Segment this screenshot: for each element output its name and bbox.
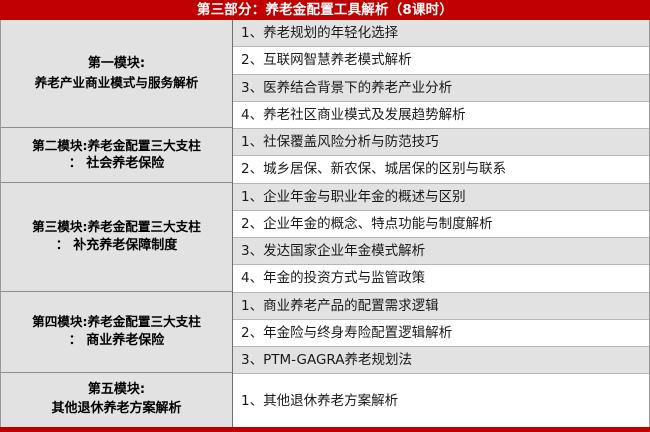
module-4-line-2: ： 商业养老保险 <box>69 332 165 351</box>
topic-row: 1、社保覆盖风险分析与防范技巧 <box>233 129 649 156</box>
topic-row: 3、PTM-GAGRA养老规划法 <box>233 347 649 374</box>
module-column: 第一模块: 养老产业商业模式与服务解析 第二模块:养老金配置三大支柱 ： 社会养… <box>1 20 233 427</box>
module-cell-1: 第一模块: 养老产业商业模式与服务解析 <box>1 20 232 128</box>
module-cell-2: 第二模块:养老金配置三大支柱 ： 社会养老保险 <box>1 128 232 183</box>
course-outline-table: 第三部分：养老金配置工具解析（8课时） 第一模块: 养老产业商业模式与服务解析 … <box>0 0 650 432</box>
topic-row: 1、其他退休养老方案解析 <box>233 374 649 427</box>
module-cell-5: 第五模块: 其他退休养老方案解析 <box>1 373 232 427</box>
topic-row: 1、商业养老产品的配置需求逻辑 <box>233 293 649 320</box>
module-5-line-1: 第五模块: <box>88 381 145 400</box>
module-2-line-2: ： 社会养老保险 <box>69 155 165 174</box>
topic-row: 2、城乡居保、新农保、城居保的区别与联系 <box>233 156 649 183</box>
topic-row: 3、发达国家企业年金模式解析 <box>233 238 649 265</box>
table-body: 第一模块: 养老产业商业模式与服务解析 第二模块:养老金配置三大支柱 ： 社会养… <box>0 20 650 427</box>
module-cell-4: 第四模块:养老金配置三大支柱 ： 商业养老保险 <box>1 292 232 374</box>
topic-row: 1、养老规划的年轻化选择 <box>233 20 649 47</box>
module-cell-3: 第三模块:养老金配置三大支柱 ： 补充养老保障制度 <box>1 183 232 291</box>
module-4-line-1: 第四模块:养老金配置三大支柱 <box>32 313 201 331</box>
topic-row: 2、年金险与终身寿险配置逻辑解析 <box>233 320 649 347</box>
topic-row: 4、年金的投资方式与监管政策 <box>233 265 649 292</box>
module-3-line-1: 第三模块:养老金配置三大支柱 <box>32 218 201 236</box>
module-5-line-2: 其他退休养老方案解析 <box>51 400 181 419</box>
topic-row: 2、企业年金的概念、特点功能与制度解析 <box>233 211 649 238</box>
module-1-line-2: 养老产业商业模式与服务解析 <box>35 74 199 92</box>
topic-row: 1、企业年金与职业年金的概述与区别 <box>233 184 649 211</box>
module-3-line-2: ： 补充养老保障制度 <box>56 237 178 256</box>
module-1-line-1: 第一模块: <box>88 55 145 74</box>
topic-row: 3、医养结合背景下的养老产业分析 <box>233 75 649 102</box>
module-2-line-1: 第二模块:养老金配置三大支柱 <box>32 137 201 155</box>
topic-row: 2、互联网智慧养老模式解析 <box>233 47 649 74</box>
section-header-title: 第三部分：养老金配置工具解析（8课时） <box>0 0 650 20</box>
topic-row: 4、养老社区商业模式及发展趋势解析 <box>233 102 649 129</box>
topic-column: 1、养老规划的年轻化选择 2、互联网智慧养老模式解析 3、医养结合背景下的养老产… <box>233 20 649 427</box>
